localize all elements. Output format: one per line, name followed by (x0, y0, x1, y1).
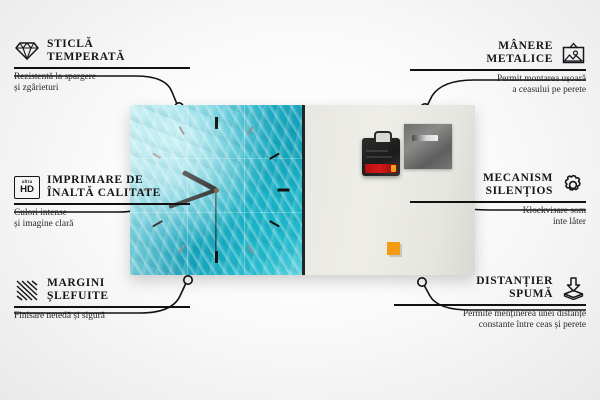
ultra-hd-badge-icon: ultra HD (14, 175, 40, 199)
feature-subtitle-line1: Finisare netedă și sigură (14, 311, 190, 323)
feature-subtitle-line2: constante între ceas și perete (394, 320, 586, 332)
feature-subtitle-line1: Permite menținerea unei distanțe (394, 309, 586, 321)
feature-tempered-glass: STICLĂ TEMPERATĂ Rezistentă la spargere … (14, 38, 190, 95)
battery (365, 164, 397, 173)
divider (14, 203, 190, 205)
divider (14, 67, 190, 69)
infographic-canvas: STICLĂ TEMPERATĂ Rezistentă la spargere … (0, 0, 600, 400)
divider (410, 201, 586, 203)
feature-title-line1: MARGINI (47, 277, 109, 290)
feature-title-line1: MÂNERE (486, 40, 553, 53)
badge-hd-text: HD (20, 185, 34, 195)
feature-title-line2: TEMPERATĂ (47, 51, 125, 64)
metal-hanger-plate (404, 124, 452, 169)
hanging-frame-icon (560, 41, 586, 65)
hatched-edge-icon (14, 278, 40, 302)
feature-subtitle-line2: a ceasului pe perete (410, 85, 586, 97)
feature-silent-mechanism: MECANISM SILENȚIOS Klockvisare som inte … (410, 172, 586, 229)
feature-subtitle-line2: inte låter (410, 217, 586, 229)
feature-title-line2: SILENȚIOS (483, 185, 553, 198)
feature-title-line1: MECANISM (483, 172, 553, 185)
feature-title-line2: ÎNALTĂ CALITATE (47, 187, 161, 200)
clock-second-hand (215, 190, 216, 252)
feature-polished-edges: MARGINI ȘLEFUITE Finisare netedă și sigu… (14, 277, 190, 322)
diamond-icon (14, 39, 40, 63)
divider (410, 69, 586, 71)
divider (14, 306, 190, 308)
foam-spacer-pad (387, 242, 400, 255)
feature-subtitle-line2: și imagine clară (14, 219, 190, 231)
feature-title-line1: IMPRIMARE DE (47, 174, 161, 187)
feature-title-line1: STICLĂ (47, 38, 125, 51)
feature-title-line2: ȘLEFUITE (47, 290, 109, 303)
feature-subtitle-line1: Permit montarea ușoară (410, 74, 586, 86)
feature-subtitle-line2: și zgârieturi (14, 83, 190, 95)
clock-center-hub (214, 188, 219, 193)
feature-high-quality-print: ultra HD IMPRIMARE DE ÎNALTĂ CALITATE Cu… (14, 174, 190, 231)
feature-subtitle-line1: Culori intense (14, 208, 190, 220)
down-arrow-layer-icon (560, 276, 586, 300)
feature-subtitle-line1: Klockvisare som (410, 206, 586, 218)
feature-title-line2: SPUMĂ (476, 288, 553, 301)
divider (394, 304, 586, 306)
feature-metal-handles: MÂNERE METALICE Permit montarea ușoară a… (410, 40, 586, 97)
gear-icon (560, 173, 586, 197)
feature-foam-spacer: DISTANȚIER SPUMĂ Permite menținerea unei… (394, 275, 586, 332)
quartz-mechanism-box (362, 138, 400, 176)
feature-subtitle-line1: Rezistentă la spargere (14, 72, 190, 84)
feature-title-line2: METALICE (486, 53, 553, 66)
feature-title-line1: DISTANȚIER (476, 275, 553, 288)
